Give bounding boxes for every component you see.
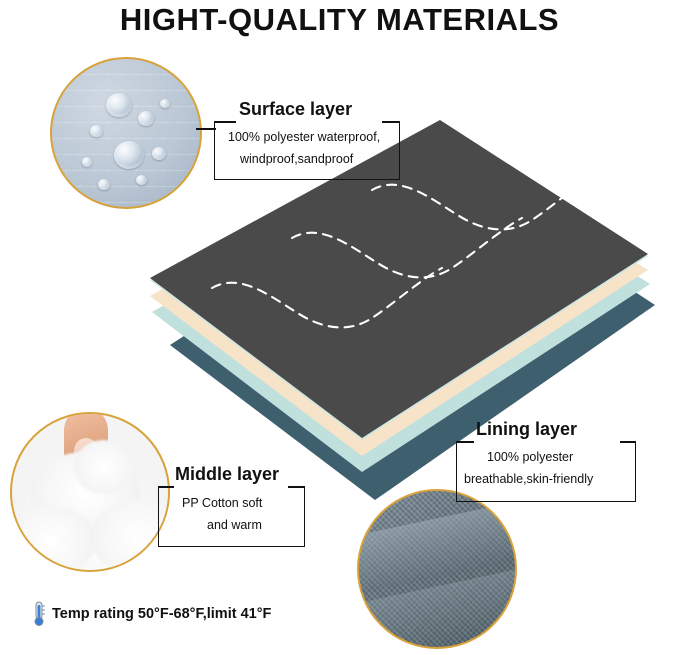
fabric-mesh-texture — [52, 59, 200, 207]
surface-layer-title: Surface layer — [239, 99, 352, 120]
middle-layer-line1: PP Cotton soft — [182, 492, 262, 514]
surface-layer-line1: 100% polyester waterproof, — [228, 126, 380, 148]
surface-layer-line2: windproof,sandproof — [240, 148, 353, 170]
surface-callout-leader — [196, 128, 216, 130]
infographic-page: HIGHT-QUALITY MATERIALS — [0, 0, 679, 655]
lining-layer-line2: breathable,skin-friendly — [464, 468, 593, 490]
middle-layer-title: Middle layer — [175, 464, 279, 485]
middle-layer-line2: and warm — [207, 514, 262, 536]
thermometer-icon — [32, 601, 46, 627]
page-title: HIGHT-QUALITY MATERIALS — [0, 2, 679, 38]
cotton-fill-photo — [10, 412, 170, 572]
temperature-rating: Temp rating 50°F-68°F,limit 41°F — [32, 601, 271, 627]
lining-layer-line1: 100% polyester — [487, 446, 573, 468]
lining-fabric-photo — [357, 489, 517, 649]
water-droplets-photo — [50, 57, 202, 209]
lining-layer-title: Lining layer — [476, 419, 577, 440]
temperature-rating-text: Temp rating 50°F-68°F,limit 41°F — [52, 606, 271, 622]
